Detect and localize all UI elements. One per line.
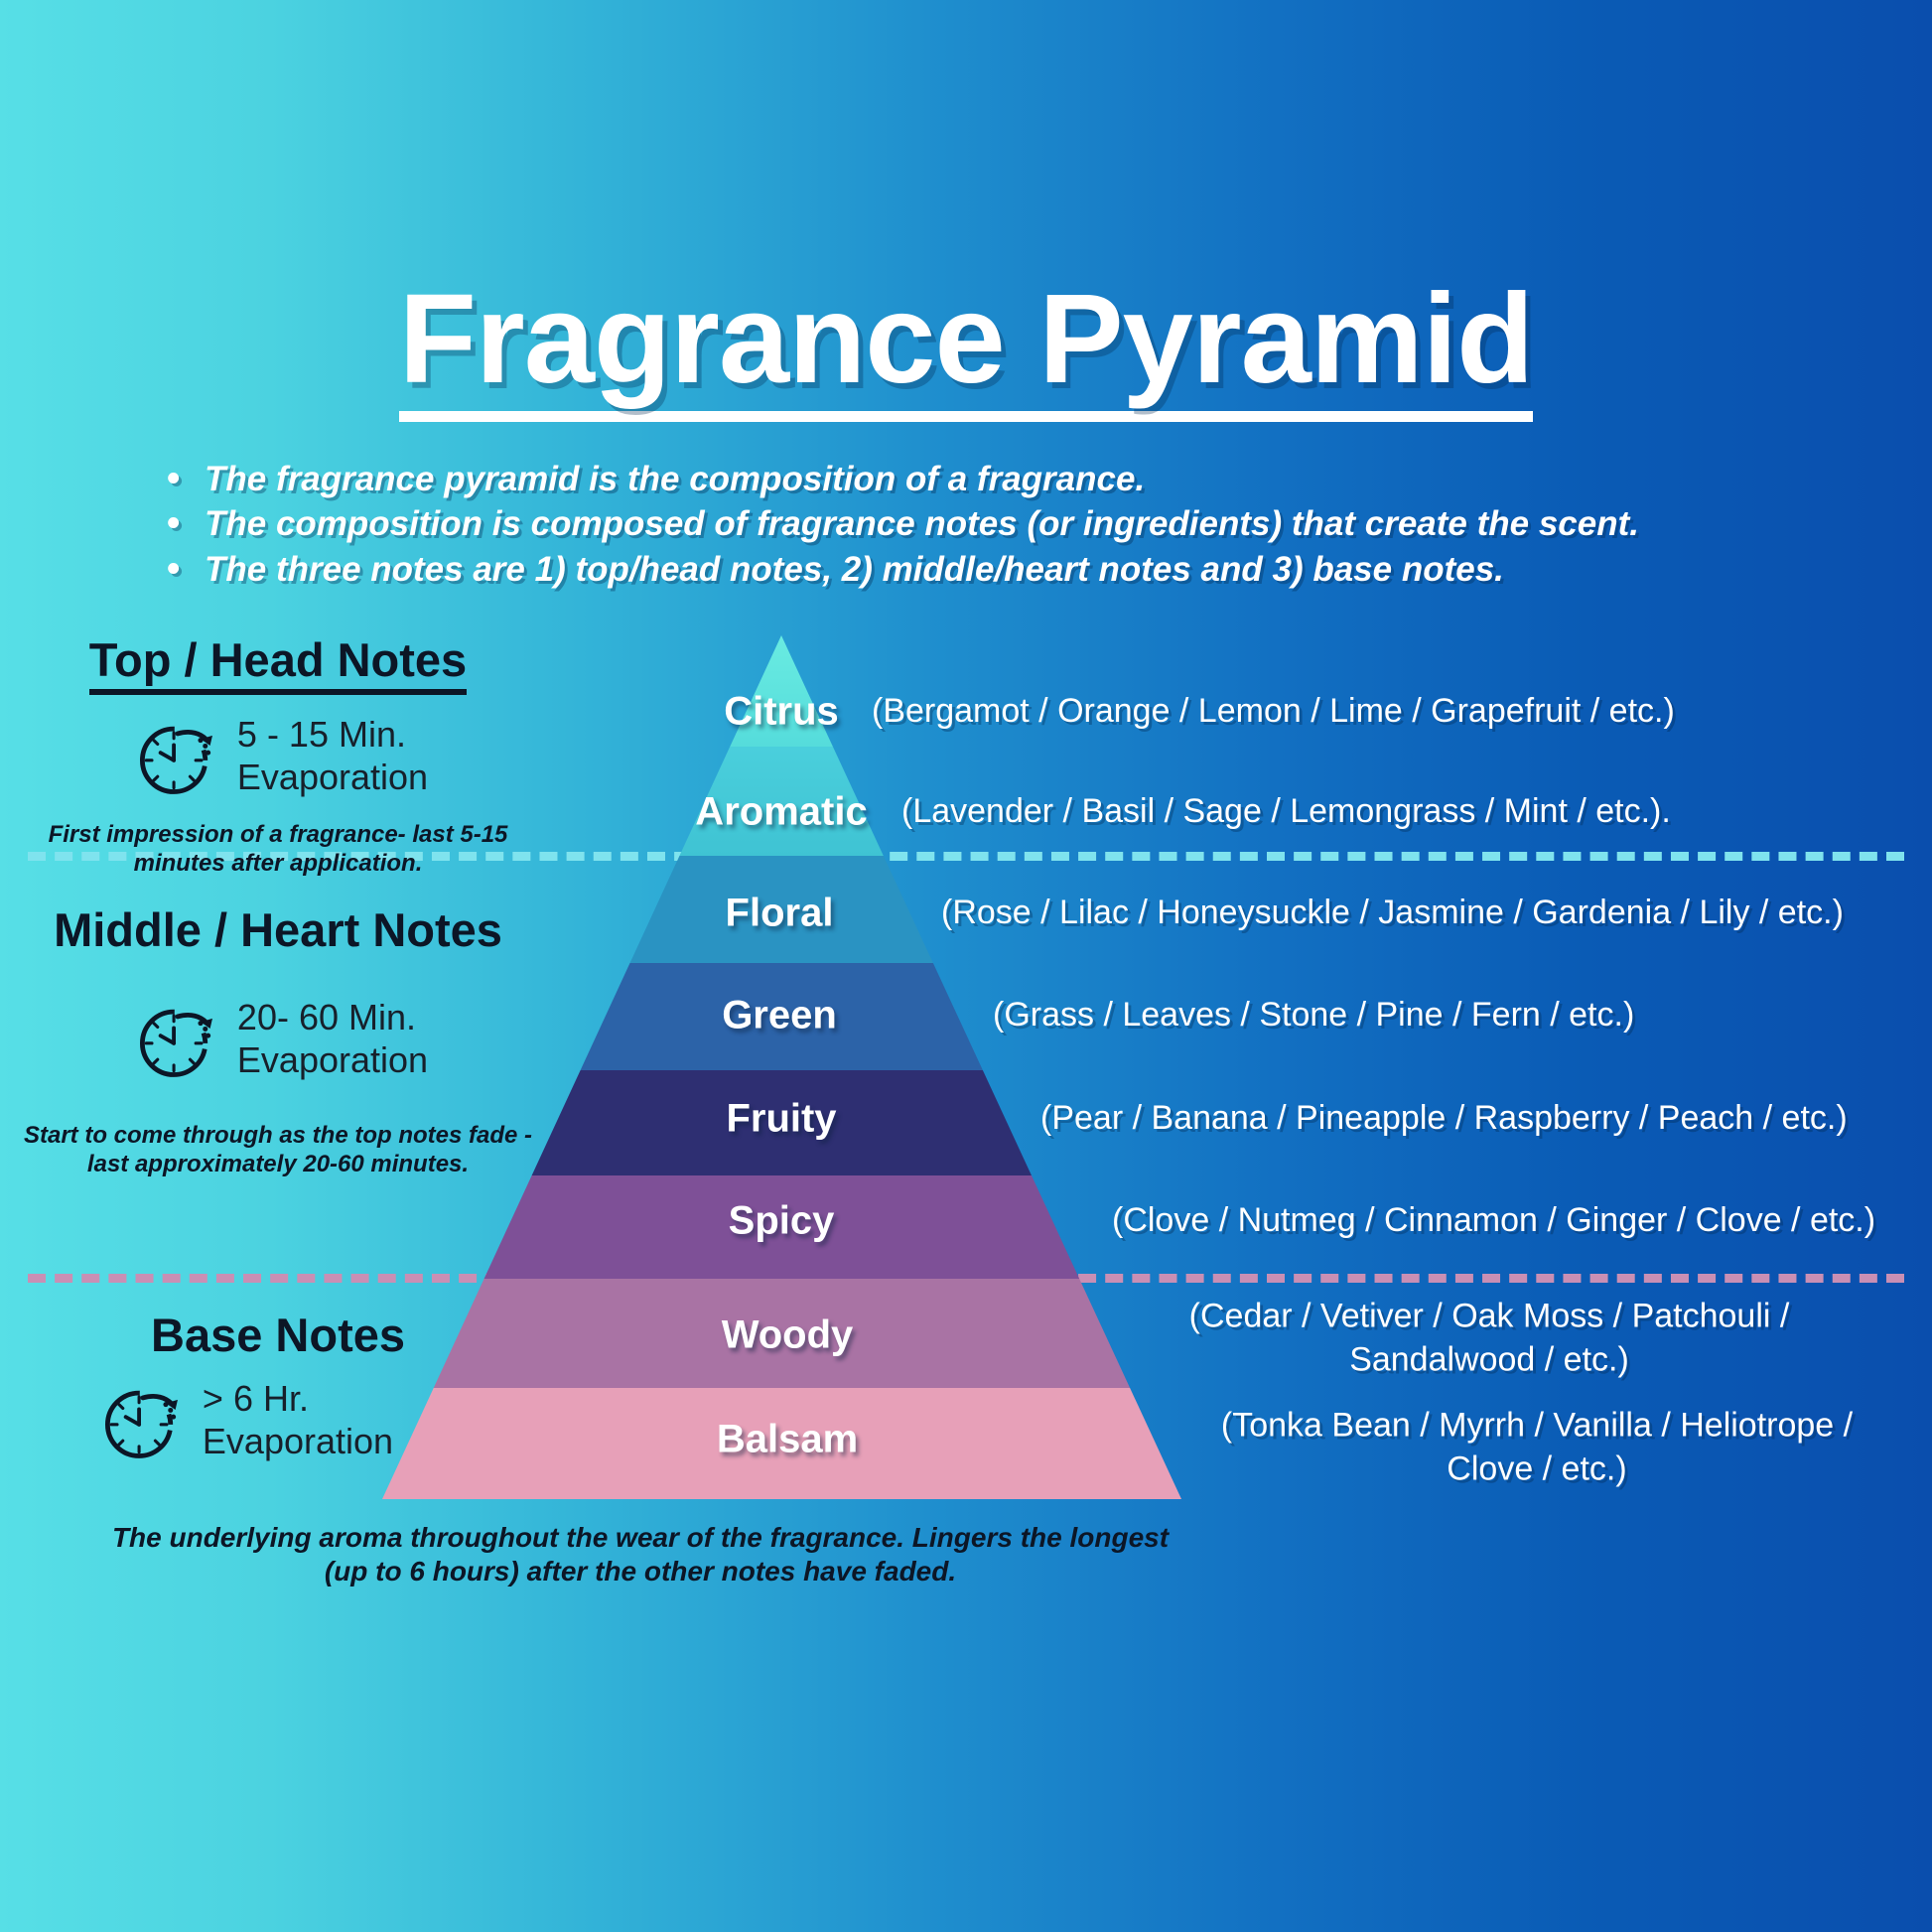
evaporation-text: 20- 60 Min. Evaporation <box>237 997 428 1081</box>
evaporation-text: > 6 Hr. Evaporation <box>203 1378 393 1462</box>
page-title-text: Fragrance Pyramid <box>399 276 1534 422</box>
section-base-notes: Base Notes <box>20 1311 536 1468</box>
list-item: The composition is composed of fragrance… <box>167 503 1855 544</box>
band-label-balsam: Balsam <box>717 1418 858 1462</box>
clock-icon <box>128 992 223 1087</box>
evaporation-label: Evaporation <box>237 1039 428 1081</box>
band-label-spicy: Spicy <box>729 1199 835 1244</box>
evaporation-time: 5 - 15 Min. <box>237 714 428 756</box>
evaporation-label: Evaporation <box>203 1421 393 1462</box>
infographic-canvas: Fragrance Pyramid The fragrance pyramid … <box>0 0 1932 1932</box>
evaporation-label: Evaporation <box>237 757 428 798</box>
evaporation-row: 20- 60 Min. Evaporation <box>20 992 536 1087</box>
ingredients-spicy: (Clove / Nutmeg / Cinnamon / Ginger / Cl… <box>1112 1199 1875 1243</box>
band-label-green: Green <box>722 994 837 1038</box>
base-notes-bottom-caption: The underlying aroma throughout the wear… <box>89 1521 1191 1588</box>
section-caption: First impression of a fragrance- last 5-… <box>20 820 536 879</box>
clock-icon <box>93 1373 189 1468</box>
page-title: Fragrance Pyramid <box>0 276 1932 422</box>
ingredients-fruity: (Pear / Banana / Pineapple / Raspberry /… <box>1040 1097 1848 1141</box>
section-middle-heart-notes: Middle / Heart Notes <box>20 905 536 1178</box>
evaporation-row: > 6 Hr. Evaporation <box>0 1373 536 1468</box>
section-divider-middle <box>28 1274 1904 1283</box>
section-caption: Start to come through as the top notes f… <box>20 1121 536 1179</box>
ingredients-citrus: (Bergamot / Orange / Lemon / Lime / Grap… <box>872 690 1675 734</box>
list-item: The fragrance pyramid is the composition… <box>167 459 1855 499</box>
ingredients-woody: (Cedar / Vetiver / Oak Moss / Patchouli … <box>1172 1295 1807 1381</box>
clock-icon <box>128 709 223 804</box>
evaporation-time: 20- 60 Min. <box>237 997 428 1038</box>
intro-bullet-list: The fragrance pyramid is the composition… <box>167 459 1855 594</box>
ingredients-aromatic: (Lavender / Basil / Sage / Lemongrass / … <box>901 790 1671 834</box>
section-heading: Middle / Heart Notes <box>54 905 502 956</box>
band-label-citrus: Citrus <box>724 690 839 735</box>
section-heading: Top / Head Notes <box>89 635 467 695</box>
section-heading: Base Notes <box>151 1311 405 1361</box>
evaporation-text: 5 - 15 Min. Evaporation <box>237 714 428 798</box>
ingredients-green: (Grass / Leaves / Stone / Pine / Fern / … <box>993 994 1634 1037</box>
ingredients-floral: (Rose / Lilac / Honeysuckle / Jasmine / … <box>941 892 1844 935</box>
band-label-woody: Woody <box>722 1313 854 1358</box>
ingredients-balsam: (Tonka Bean / Myrrh / Vanilla / Heliotro… <box>1219 1404 1855 1490</box>
evaporation-row: 5 - 15 Min. Evaporation <box>20 709 536 804</box>
list-item: The three notes are 1) top/head notes, 2… <box>167 549 1855 590</box>
section-top-head-notes: Top / Head Notes <box>20 635 536 878</box>
band-label-floral: Floral <box>726 892 834 936</box>
evaporation-time: > 6 Hr. <box>203 1378 393 1420</box>
band-label-fruity: Fruity <box>726 1097 836 1142</box>
band-label-aromatic: Aromatic <box>695 790 867 835</box>
